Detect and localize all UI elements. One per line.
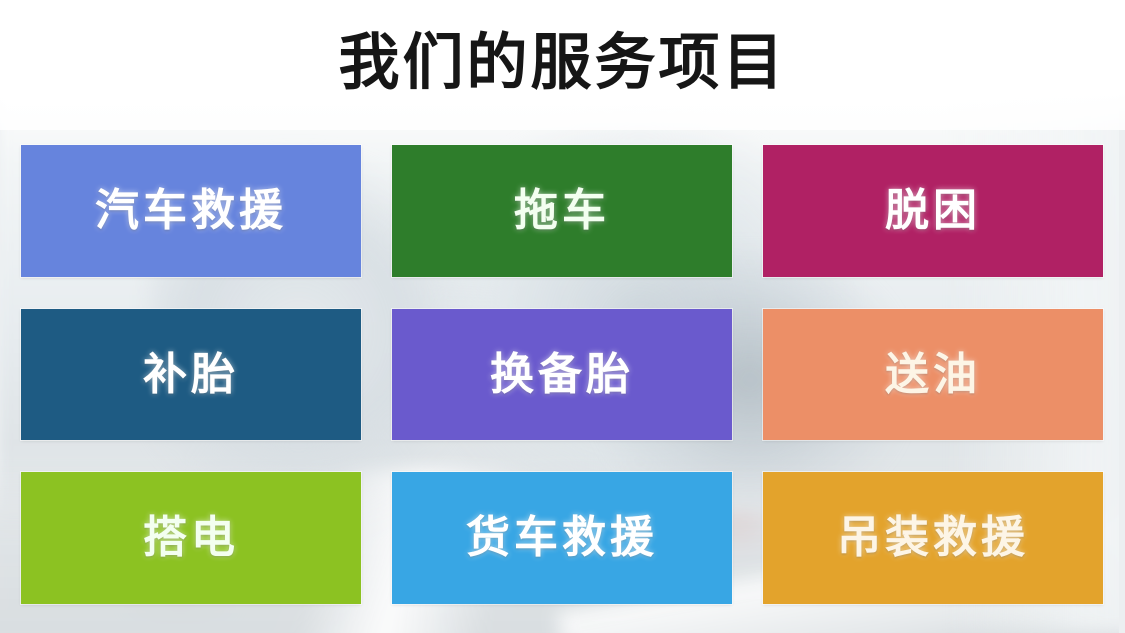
service-tile-1[interactable]: 拖车 [392,145,732,277]
service-tile-label-1: 拖车 [514,189,610,233]
service-tile-grid: 汽车救援 拖车 脱困 补胎 换备胎 送油 搭电 货车救援 吊装救援 [21,145,1104,604]
service-tile-5[interactable]: 送油 [763,309,1103,440]
service-tile-2[interactable]: 脱困 [763,145,1103,277]
service-poster: 我们的服务项目 汽车救援 拖车 脱困 补胎 换备胎 送油 搭电 货车救援 吊装救… [0,0,1125,633]
service-tile-8[interactable]: 吊装救援 [763,472,1103,604]
page-title: 我们的服务项目 [338,32,786,99]
service-tile-4[interactable]: 换备胎 [392,309,732,440]
service-tile-label-6: 搭电 [143,516,239,560]
service-tile-0[interactable]: 汽车救援 [21,145,361,277]
service-tile-label-5: 送油 [885,353,981,397]
title-band: 我们的服务项目 [0,0,1125,130]
service-tile-6[interactable]: 搭电 [21,472,361,604]
service-tile-3[interactable]: 补胎 [21,309,361,440]
service-tile-label-7: 货车救援 [466,516,658,560]
service-tile-label-2: 脱困 [885,189,981,233]
service-tile-label-0: 汽车救援 [95,189,287,233]
service-tile-label-4: 换备胎 [490,353,634,397]
service-tile-label-3: 补胎 [143,353,239,397]
service-tile-label-8: 吊装救援 [837,516,1029,560]
service-tile-7[interactable]: 货车救援 [392,472,732,604]
